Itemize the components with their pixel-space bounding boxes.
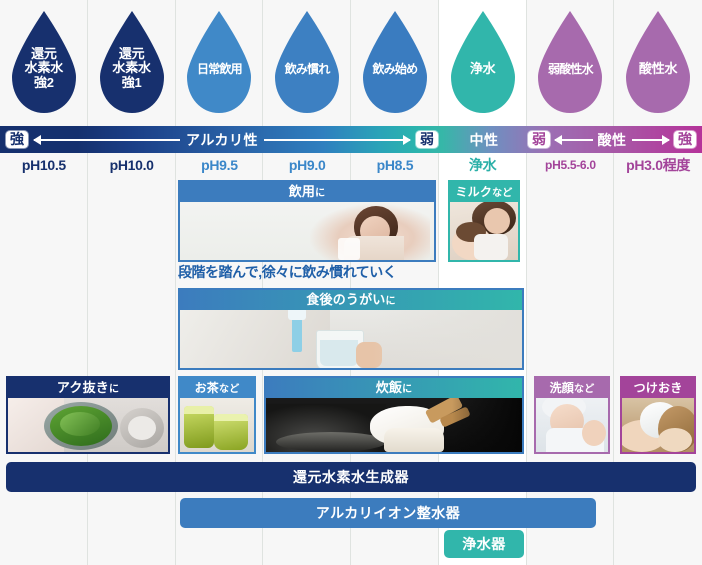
block-milk: ミルクなど <box>448 180 520 262</box>
droplet-cell-5: 浄水 <box>439 0 527 125</box>
block-drinking-suffix: に <box>315 188 325 199</box>
block-drinking-header: 飲用に <box>180 182 434 202</box>
water-drop-icon: 弱酸性水 <box>530 9 610 117</box>
droplet-label: 還元水素水強2 <box>5 47 83 91</box>
block-tea-photo <box>180 398 254 452</box>
block-milk-photo <box>450 202 518 260</box>
droplet-cell-6: 弱酸性水 <box>527 0 615 125</box>
block-rice-header: 炊飯に <box>266 378 522 398</box>
water-drop-icon: 飲み慣れ <box>267 9 347 117</box>
block-aku: アク抜きに <box>6 376 170 454</box>
block-face-label: 洗顔 <box>550 381 574 395</box>
block-drinking-label: 飲用 <box>289 184 315 199</box>
block-milk-label: ミルク <box>455 185 492 199</box>
ph-value-col-ph105: pH10.5 <box>0 154 88 176</box>
water-drop-icon: 日常飲用 <box>179 9 259 117</box>
droplet-label: 日常飲用 <box>180 63 258 76</box>
droplet-cell-3: 飲み慣れ <box>263 0 351 125</box>
block-rice-suffix: に <box>402 384 412 395</box>
block-face-suffix: など <box>574 384 594 395</box>
block-drinking-photo <box>180 202 434 260</box>
block-rice: 炊飯に <box>264 376 524 454</box>
block-gargle-photo <box>180 310 522 368</box>
device-label-purifier: 浄水器 <box>462 536 506 552</box>
block-rice-photo <box>266 398 522 452</box>
ph-value-col-ph55: pH5.5-6.0 <box>527 154 615 176</box>
block-soak-label: つけおき <box>634 381 683 395</box>
droplet-label: 還元水素水強1 <box>93 47 171 91</box>
droplet-cell-1: 還元水素水強1 <box>88 0 176 125</box>
ph-value-col-joshui: 浄水 <box>439 154 527 176</box>
block-tea-label: お茶 <box>195 381 219 395</box>
device-bar-alkali: アルカリイオン整水器 <box>180 498 596 528</box>
ph-value-row: pH10.5pH10.0pH9.5pH9.0pH8.5浄水pH5.5-6.0pH… <box>0 154 702 176</box>
block-milk-suffix: など <box>492 188 512 199</box>
droplet-label: 浄水 <box>444 62 522 77</box>
block-aku-label: アク抜き <box>57 380 109 395</box>
ph-scale-bar: 強 アルカリ性 弱 中性 弱 酸性 強 <box>0 126 702 153</box>
water-drop-icon: 還元水素水強2 <box>4 9 84 117</box>
acid-label: 酸性 <box>598 130 627 150</box>
device-label-hydrogen: 還元水素水生成器 <box>293 469 409 485</box>
droplet-label: 酸性水 <box>619 62 697 77</box>
device-label-alkali: アルカリイオン整水器 <box>316 505 460 521</box>
block-tea-suffix: など <box>219 384 239 395</box>
ph-value-col-ph95: pH9.5 <box>176 154 264 176</box>
acid-weak-badge: 弱 <box>528 131 550 148</box>
block-gargle-suffix: に <box>386 296 396 307</box>
water-drop-icon: 酸性水 <box>618 9 698 117</box>
block-soak-photo <box>622 398 694 452</box>
droplet-label: 飲み始め <box>356 63 434 76</box>
block-soak-header: つけおき <box>622 378 694 398</box>
device-bar-hydrogen: 還元水素水生成器 <box>6 462 696 492</box>
water-drop-icon: 飲み始め <box>355 9 435 117</box>
alkaline-label: アルカリ性 <box>186 130 258 150</box>
alkaline-weak-badge: 弱 <box>416 131 438 148</box>
ph-value-col-ph85: pH8.5 <box>351 154 439 176</box>
droplet-cell-0: 還元水素水強2 <box>0 0 88 125</box>
drinking-caption: 段階を踏んで,徐々に飲み慣れていく <box>178 262 396 282</box>
block-rice-label: 炊飯 <box>376 380 402 395</box>
water-drop-icon: 還元水素水強1 <box>92 9 172 117</box>
acid-strong-badge: 強 <box>674 131 696 148</box>
block-face-header: 洗顔など <box>536 378 608 398</box>
block-aku-header: アク抜きに <box>8 378 168 398</box>
block-tea-header: お茶など <box>180 378 254 398</box>
block-drinking: 飲用に <box>178 180 436 262</box>
neutral-label: 中性 <box>470 130 499 150</box>
alkaline-strong-badge: 強 <box>6 131 28 148</box>
block-tea: お茶など <box>178 376 256 454</box>
droplet-label: 弱酸性水 <box>531 63 609 76</box>
water-drop-icon: 浄水 <box>443 9 523 117</box>
droplet-cell-7: 酸性水 <box>614 0 702 125</box>
block-face: 洗顔など <box>534 376 610 454</box>
block-gargle: 食後のうがいに <box>178 288 524 370</box>
block-gargle-header: 食後のうがいに <box>180 290 522 310</box>
block-soak: つけおき <box>620 376 696 454</box>
droplet-cell-4: 飲み始め <box>351 0 439 125</box>
droplet-row: 還元水素水強2還元水素水強1日常飲用飲み慣れ飲み始め浄水弱酸性水酸性水 <box>0 0 702 125</box>
ph-value-col-ph90: pH9.0 <box>263 154 351 176</box>
droplet-label: 飲み慣れ <box>268 63 346 76</box>
droplet-cell-2: 日常飲用 <box>176 0 264 125</box>
ph-value-col-ph100: pH10.0 <box>88 154 176 176</box>
block-gargle-label: 食後のうがい <box>306 292 385 307</box>
block-aku-suffix: に <box>109 384 119 395</box>
block-face-photo <box>536 398 608 452</box>
block-milk-header: ミルクなど <box>450 182 518 202</box>
block-aku-photo <box>8 398 168 452</box>
ph-value-col-ph30: pH3.0程度 <box>614 154 702 176</box>
device-bar-purifier: 浄水器 <box>444 530 524 558</box>
